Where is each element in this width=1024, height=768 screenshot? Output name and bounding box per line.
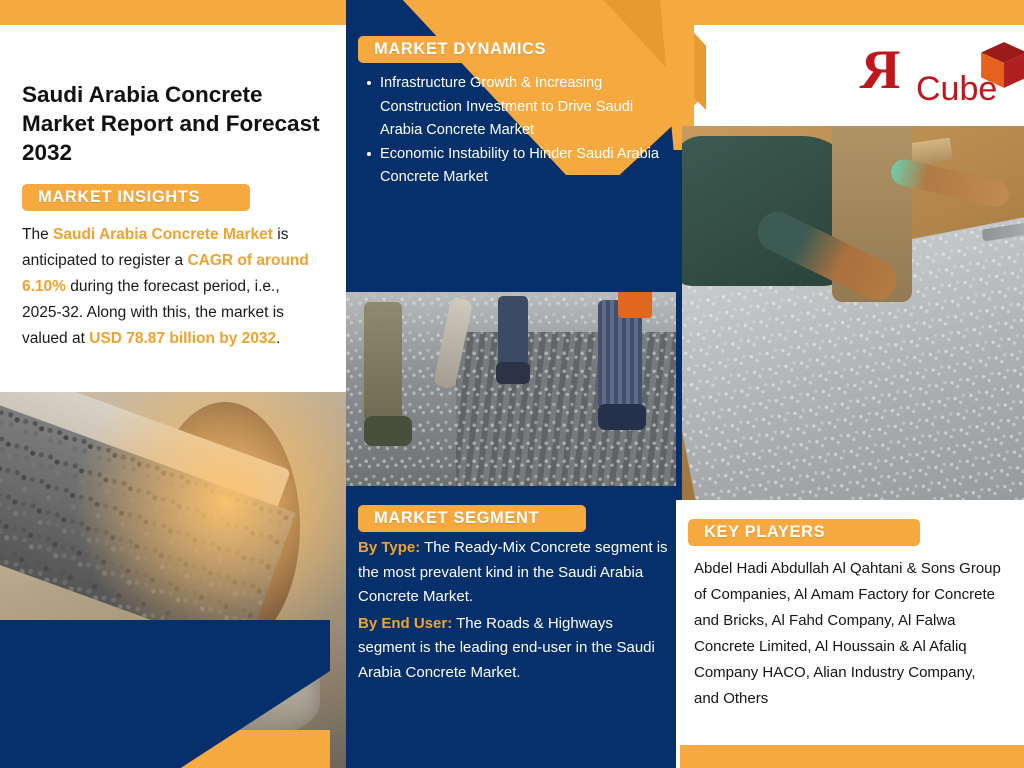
brand-logo[interactable]: R Cube: [860, 40, 1010, 112]
workers-screeding-concrete-photo: [346, 292, 676, 486]
segment-label-by-end-user: By End User:: [358, 615, 452, 632]
badge-key-players: KEY PLAYERS: [688, 519, 920, 546]
market-dynamics-list: Infrastructure Growth & Increasing Const…: [362, 72, 670, 190]
photo-safety-vest: [618, 292, 652, 318]
key-players-body: Abdel Hadi Abdullah Al Qahtani & Sons Gr…: [694, 556, 1004, 712]
segment-item-by-type: By Type: The Ready-Mix Concrete segment …: [358, 536, 674, 610]
insights-text-part1: The: [22, 226, 53, 243]
worker-troweling-concrete-path-photo: [682, 126, 1024, 500]
infographic-poster: Saudi Arabia Concrete Market Report and …: [0, 0, 1024, 768]
top-left-orange-rail: [0, 0, 356, 25]
badge-market-insights: MARKET INSIGHTS: [22, 184, 250, 211]
logo-mirrored-r-letter: R: [860, 42, 900, 98]
photo-worker-boot-three: [598, 404, 646, 430]
insights-text-part4: .: [276, 330, 280, 347]
page-title: Saudi Arabia Concrete Market Report and …: [22, 80, 322, 167]
bottom-right-orange-rail: [680, 745, 1024, 768]
top-right-orange-rail: [676, 0, 1024, 25]
market-insights-body: The Saudi Arabia Concrete Market is anti…: [22, 222, 322, 352]
market-segment-body: By Type: The Ready-Mix Concrete segment …: [358, 536, 674, 687]
segment-item-by-end-user: By End User: The Roads & Highways segmen…: [358, 612, 674, 686]
insights-highlight-value: USD 78.87 billion by 2032: [89, 330, 276, 347]
photo-worker-legs-two: [498, 296, 528, 366]
photo-worker-boot-two: [496, 362, 530, 384]
photo-worker-camo-legs: [364, 302, 402, 422]
badge-market-dynamics: MARKET DYNAMICS: [358, 36, 580, 63]
bottom-left-corner-decoration: [0, 620, 330, 768]
list-item: Infrastructure Growth & Increasing Const…: [380, 72, 670, 143]
photo-worker-boot-one: [364, 416, 412, 446]
segment-label-by-type: By Type:: [358, 539, 420, 556]
insights-highlight-market: Saudi Arabia Concrete Market: [53, 226, 273, 243]
list-item: Economic Instability to Hinder Saudi Ara…: [380, 143, 670, 190]
cube-icon: [978, 40, 1024, 92]
badge-market-segment: MARKET SEGMENT: [358, 505, 586, 532]
